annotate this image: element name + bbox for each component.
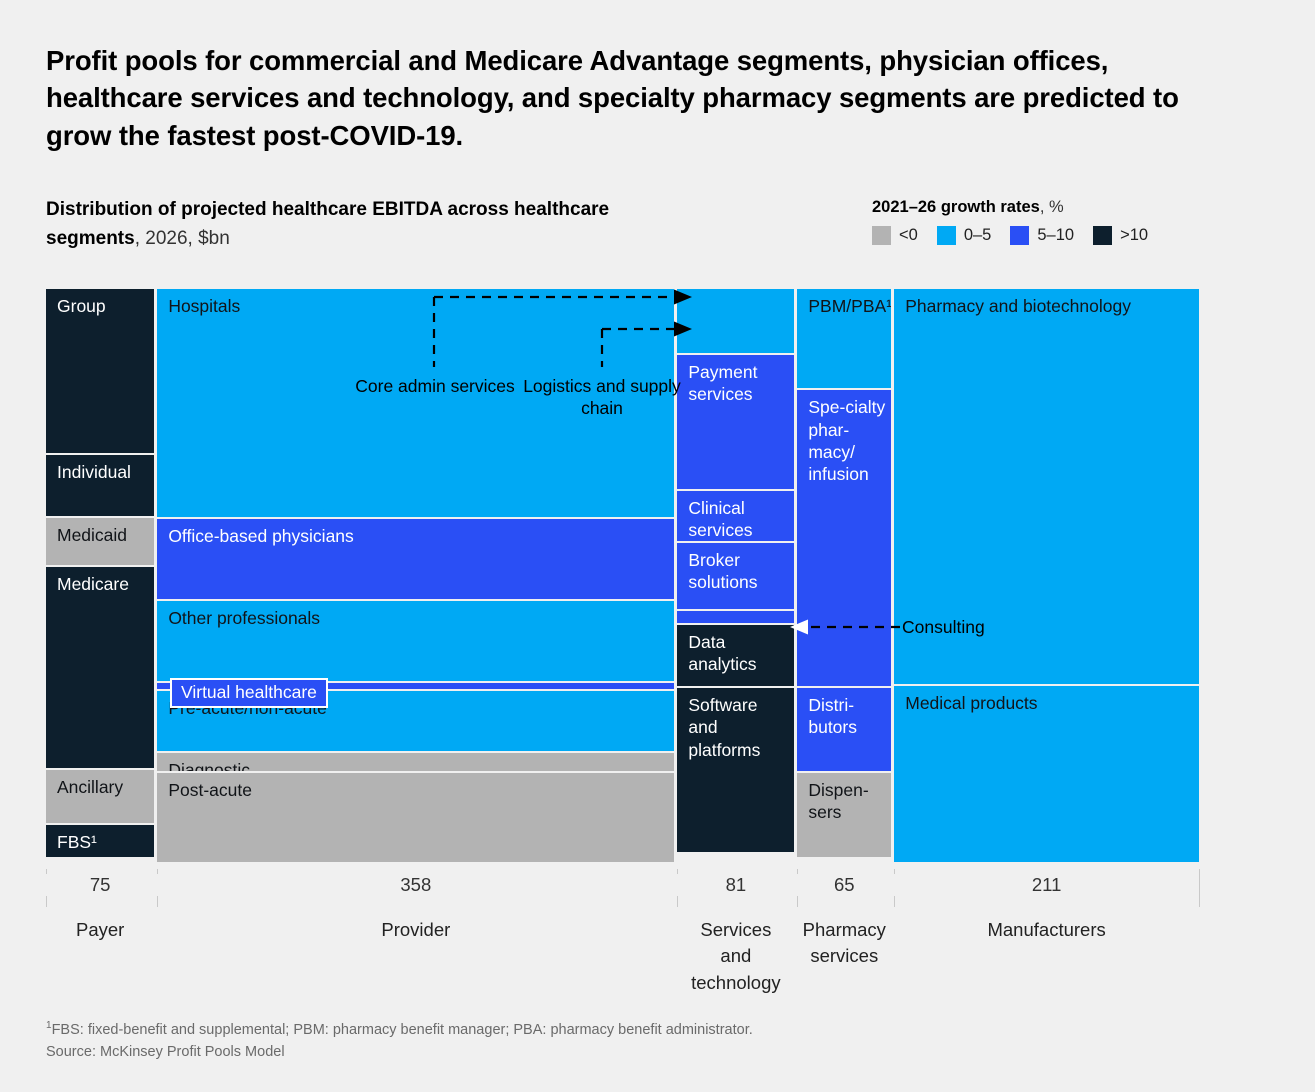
chart-cell: Dispen-sers (797, 773, 891, 858)
chart-cell-label: Medical products (905, 692, 1195, 714)
axis-value: 65 (797, 874, 891, 896)
chart-cell: Ancillary (46, 770, 154, 823)
core-admin-services-label: Core admin services (352, 375, 518, 397)
chart-column-manufacturers: Pharmacy and biotechnologyMedical produc… (894, 289, 1199, 867)
chart-cell-label: Medicare (57, 573, 150, 595)
chart-cell: Other professionals (157, 601, 674, 681)
chart-cell: Medical products (894, 686, 1199, 862)
legend-label: <0 (899, 226, 918, 245)
chart-column-services-and-technology: PaymentservicesClinicalservicesBrokersol… (677, 289, 794, 867)
chart-cell-label: Brokersolutions (688, 549, 790, 594)
consulting-label: Consulting (902, 616, 985, 638)
legend-title-bold: 2021–26 growth rates (872, 198, 1040, 216)
chart-cell: Medicare (46, 567, 154, 768)
chart-cell-label: Paymentservices (688, 361, 790, 406)
logistics-and-supply-chain-label: Logistics and supply chain (516, 375, 688, 420)
page-title: Profit pools for commercial and Medicare… (46, 42, 1206, 154)
legend-swatch-icon (937, 226, 956, 245)
chart-cell-label: Diagnostic (168, 759, 670, 771)
chart-cell: Individual (46, 455, 154, 517)
legend-swatch-icon (872, 226, 891, 245)
axis-measure-bar: 65 (797, 886, 891, 888)
chart-cell-label: Clinicalservices (688, 497, 790, 541)
legend-swatch-icon (1010, 226, 1029, 245)
chart-cell: Brokersolutions (677, 543, 794, 609)
chart-cell (677, 289, 794, 353)
chart-cell-label: Ancillary (57, 776, 150, 798)
legend-item-lt0: <0 (872, 226, 918, 245)
legend-title: 2021–26 growth rates, % (872, 198, 1212, 217)
axis-category-label: Payer (46, 917, 154, 943)
footnote-text: FBS: fixed-benefit and supplemental; PBM… (52, 1022, 753, 1038)
chart-cell-label: PBM/PBA¹ (808, 295, 887, 317)
legend-title-unit: , % (1040, 198, 1064, 216)
footnote: 1FBS: fixed-benefit and supplemental; PB… (46, 1018, 1046, 1064)
chart-cell: Dataanalytics (677, 625, 794, 686)
marimekko-chart: GroupIndividualMedicaidMedicareAncillary… (46, 289, 1199, 867)
footnote-line-1: 1FBS: fixed-benefit and supplemental; PB… (46, 1018, 1046, 1041)
footnote-source: Source: McKinsey Profit Pools Model (46, 1041, 1046, 1063)
virtual-healthcare-callout: Virtual healthcare (170, 678, 328, 708)
axis-measure-bar: 358 (157, 886, 674, 888)
axis-category-label: Pharmacyservices (797, 917, 891, 970)
chart-cell-label: Office-based physicians (168, 525, 670, 547)
chart-cell: Softwareandplatforms (677, 688, 794, 852)
chart-cell (677, 611, 794, 623)
chart-subtitle-bold: Distribution of projected healthcare EBI… (46, 199, 609, 249)
chart-cell-label: Spe-cialtyphar-macy/infusion (808, 396, 887, 486)
chart-cell: Clinicalservices (677, 491, 794, 541)
legend-label: >10 (1120, 226, 1148, 245)
chart-cell-label: Individual (57, 461, 150, 483)
axis-tick (1199, 869, 1200, 907)
chart-cell: Office-based physicians (157, 519, 674, 599)
chart-cell-label: Distri-butors (808, 694, 887, 739)
chart-cell-label: Pharmacy and biotechnology (905, 295, 1195, 317)
chart-cell: Medicaid (46, 518, 154, 565)
value-axis: 75Payer358Provider81Servicesandtechnolog… (46, 869, 1199, 909)
chart-cell: Post-acute (157, 773, 674, 862)
chart-column-pharmacy-services: PBM/PBA¹Spe-cialtyphar-macy/infusionDist… (797, 289, 891, 867)
legend-items: <0 0–5 5–10 >10 (872, 226, 1212, 245)
axis-value: 75 (46, 874, 154, 896)
axis-value: 211 (894, 874, 1199, 896)
chart-cell-label: Dataanalytics (688, 631, 790, 676)
axis-value: 81 (677, 874, 794, 896)
axis-value: 358 (157, 874, 674, 896)
legend: 2021–26 growth rates, % <0 0–5 5–10 >10 (872, 198, 1212, 245)
chart-column-payer: GroupIndividualMedicaidMedicareAncillary… (46, 289, 154, 867)
chart-cell: PBM/PBA¹ (797, 289, 891, 388)
axis-category-label: Servicesandtechnology (677, 917, 794, 996)
chart-cell-label: FBS¹ (57, 831, 150, 853)
chart-cell-label: Hospitals (168, 295, 670, 317)
axis-measure-bar: 81 (677, 886, 794, 888)
chart-cell-label: Medicaid (57, 524, 150, 546)
chart-subtitle: Distribution of projected healthcare EBI… (46, 196, 666, 253)
chart-cell: Paymentservices (677, 355, 794, 489)
legend-item-0-5: 0–5 (937, 226, 992, 245)
axis-measure-bar: 211 (894, 886, 1199, 888)
chart-cell-label: Other professionals (168, 607, 670, 629)
chart-cell-label: Dispen-sers (808, 779, 887, 824)
legend-swatch-icon (1093, 226, 1112, 245)
axis-category-label: Manufacturers (894, 917, 1199, 943)
chart-cell: Spe-cialtyphar-macy/infusion (797, 390, 891, 686)
chart-subtitle-regular: , 2026, $bn (135, 228, 230, 249)
axis-category-label: Provider (157, 917, 674, 943)
chart-cell: FBS¹ (46, 825, 154, 857)
legend-label: 5–10 (1037, 226, 1074, 245)
legend-label: 0–5 (964, 226, 992, 245)
axis-measure-bar: 75 (46, 886, 154, 888)
chart-cell: Group (46, 289, 154, 453)
chart-cell-label: Group (57, 295, 150, 317)
chart-cell: Diagnostic (157, 753, 674, 771)
chart-cell-label: Post-acute (168, 779, 670, 801)
legend-item-5-10: 5–10 (1010, 226, 1074, 245)
chart-cell-label: Softwareandplatforms (688, 694, 790, 761)
chart-cell: Distri-butors (797, 688, 891, 771)
legend-item-gt10: >10 (1093, 226, 1148, 245)
